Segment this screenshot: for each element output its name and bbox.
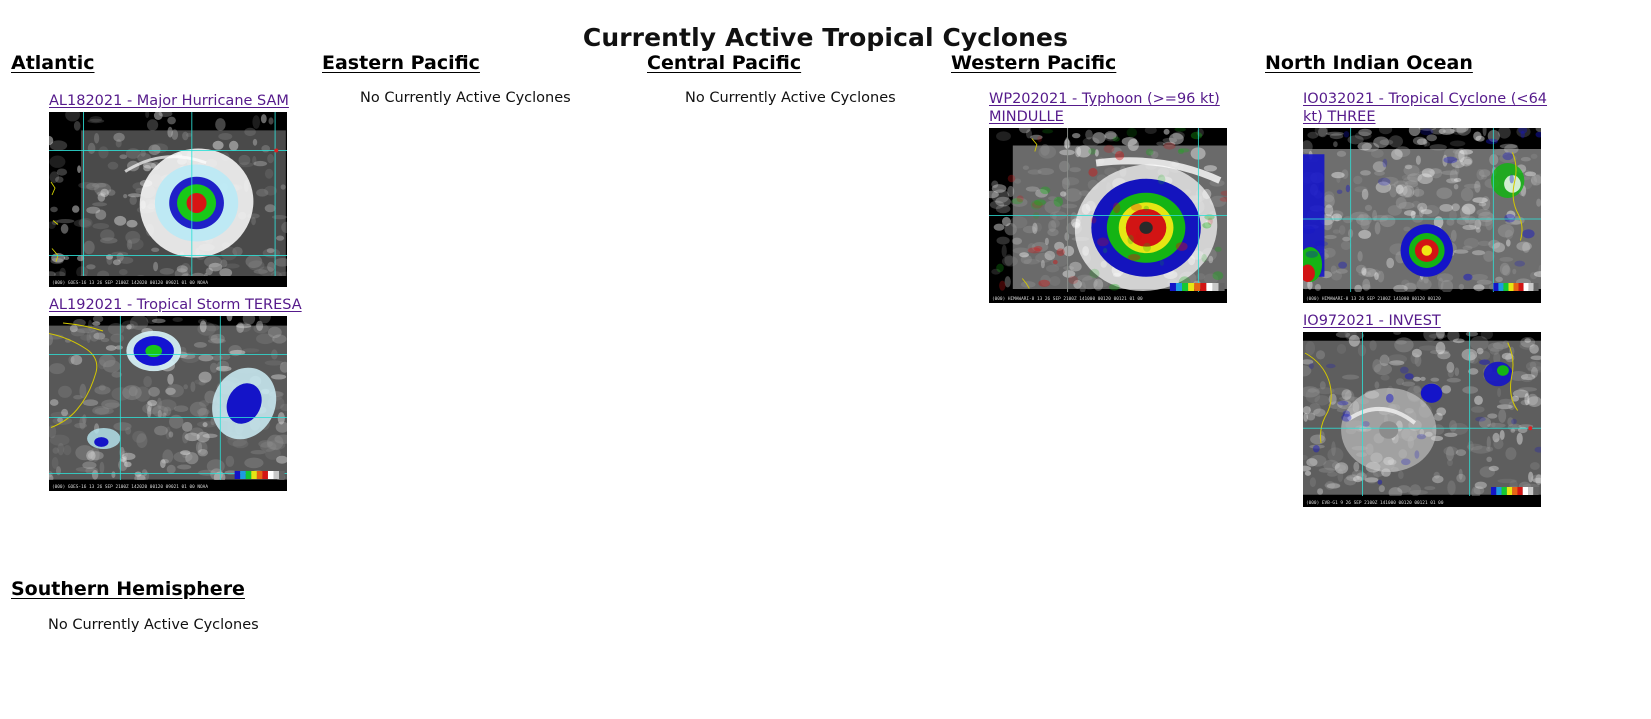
basin-body-atlantic: AL182021 - Major Hurricane SAM (000) GOE… — [11, 90, 302, 491]
basin-section-atlantic: AtlanticAL182021 - Major Hurricane SAM (… — [11, 52, 302, 498]
satellite-thumbnail-al182021[interactable]: (000) GOES-16 13 26 SEP 2100Z 142020 001… — [49, 112, 302, 287]
basin-section-eastern-pacific: Eastern PacificNo Currently Active Cyclo… — [322, 52, 571, 106]
basin-body-north-indian-ocean: IO032021 - Tropical Cyclone (<64 kt) THR… — [1265, 90, 1561, 507]
basin-body-southern-hemisphere: No Currently Active Cyclones — [11, 617, 259, 633]
svg-text:(000) HIMAWARI-8 13 26 SEP 210: (000) HIMAWARI-8 13 26 SEP 2100Z 141000 … — [1306, 296, 1441, 302]
svg-text:(000) HIMAWARI-8 13 26 SEP 210: (000) HIMAWARI-8 13 26 SEP 2100Z 141000 … — [992, 296, 1143, 302]
storm-link-io032021[interactable]: IO032021 - Tropical Cyclone (<64 kt) THR… — [1303, 90, 1561, 126]
satellite-thumbnail-io972021[interactable]: (000) EVB-G1 9 26 SEP 2100Z 141000 00120… — [1303, 332, 1561, 507]
basin-section-north-indian-ocean: North Indian OceanIO032021 - Tropical Cy… — [1265, 52, 1561, 514]
storm-link-io972021[interactable]: IO972021 - INVEST — [1303, 312, 1441, 330]
svg-text:(000) GOES-16 13 26 SEP 210: (000) GOES-16 13 26 SEP 2100Z 142020 001… — [52, 280, 208, 286]
basin-body-central-pacific: No Currently Active Cyclones — [647, 90, 896, 106]
basin-heading-atlantic: Atlantic — [11, 52, 95, 74]
storm-entry-io032021: IO032021 - Tropical Cyclone (<64 kt) THR… — [1303, 90, 1561, 303]
page-title: Currently Active Tropical Cyclones — [0, 0, 1651, 52]
satellite-thumbnail-io032021[interactable]: (000) HIMAWARI-8 13 26 SEP 2100Z 141000 … — [1303, 128, 1561, 303]
storm-link-wp202021[interactable]: WP202021 - Typhoon (>=96 kt) MINDULLE — [989, 90, 1247, 126]
basin-heading-southern-hemisphere: Southern Hemisphere — [11, 578, 245, 600]
satellite-thumbnail-al192021[interactable]: (000) GOES-16 13 26 SEP 2100Z 142020 001… — [49, 316, 302, 491]
basin-section-western-pacific: Western PacificWP202021 - Typhoon (>=96 … — [951, 52, 1247, 310]
storm-entry-al192021: AL192021 - Tropical Storm TERESA (000) G… — [49, 294, 302, 491]
basin-heading-western-pacific: Western Pacific — [951, 52, 1116, 74]
svg-text:(000) EVB-G1 9 26 SEP 210: (000) EVB-G1 9 26 SEP 2100Z 141000 00120… — [1306, 500, 1444, 506]
storm-link-al192021[interactable]: AL192021 - Tropical Storm TERESA — [49, 296, 302, 314]
basin-body-western-pacific: WP202021 - Typhoon (>=96 kt) MINDULLE (0… — [951, 90, 1247, 303]
no-active-cyclones-message: No Currently Active Cyclones — [48, 617, 259, 633]
basin-heading-eastern-pacific: Eastern Pacific — [322, 52, 480, 74]
storm-entry-wp202021: WP202021 - Typhoon (>=96 kt) MINDULLE (0… — [989, 90, 1247, 303]
storm-entry-al182021: AL182021 - Major Hurricane SAM (000) GOE… — [49, 90, 302, 287]
no-active-cyclones-message: No Currently Active Cyclones — [360, 90, 571, 106]
basin-section-central-pacific: Central PacificNo Currently Active Cyclo… — [647, 52, 896, 106]
basin-heading-north-indian-ocean: North Indian Ocean — [1265, 52, 1473, 74]
storm-link-al182021[interactable]: AL182021 - Major Hurricane SAM — [49, 92, 289, 110]
basin-heading-central-pacific: Central Pacific — [647, 52, 801, 74]
svg-text:(000) GOES-16 13 26 SEP 210: (000) GOES-16 13 26 SEP 2100Z 142020 001… — [52, 484, 208, 490]
satellite-thumbnail-wp202021[interactable]: (000) HIMAWARI-8 13 26 SEP 2100Z 141000 … — [989, 128, 1247, 303]
storm-entry-io972021: IO972021 - INVEST (000) EVB-G1 9 26 SEP … — [1303, 310, 1561, 507]
basin-section-southern-hemisphere: Southern HemisphereNo Currently Active C… — [11, 578, 259, 633]
basin-body-eastern-pacific: No Currently Active Cyclones — [322, 90, 571, 106]
no-active-cyclones-message: No Currently Active Cyclones — [685, 90, 896, 106]
